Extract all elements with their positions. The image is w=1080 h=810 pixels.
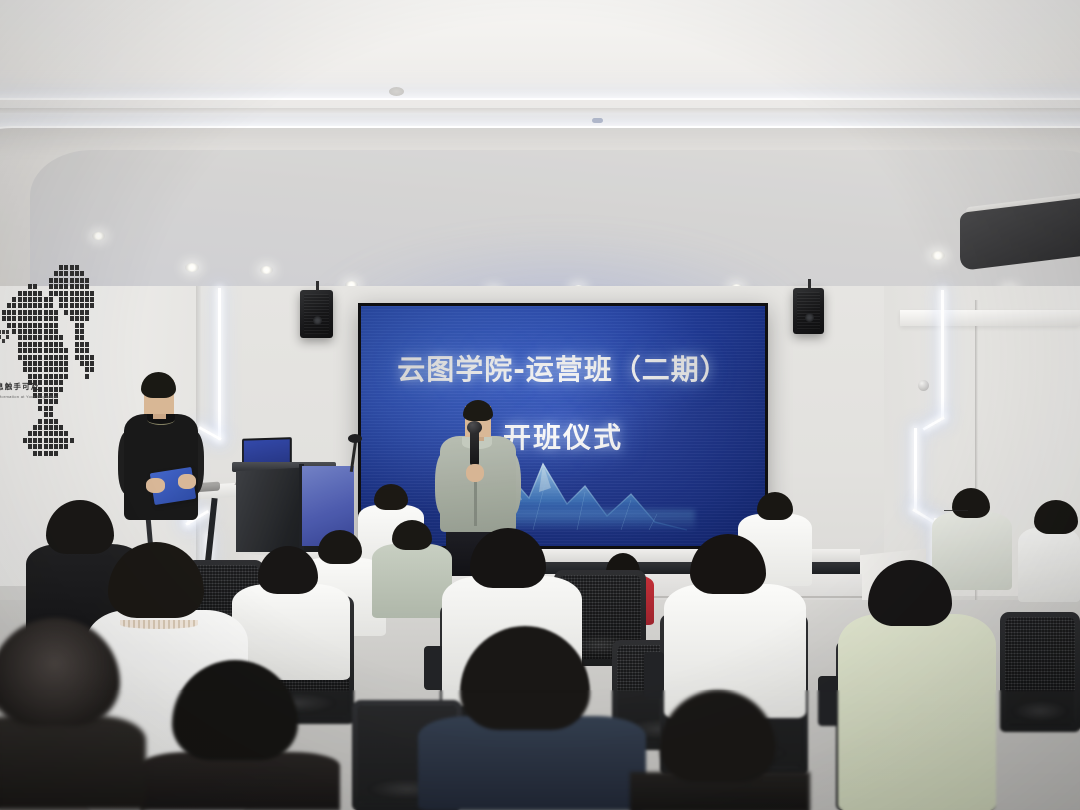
- wall-art-caption: 息触手可及 Information at Your Fingertips: [0, 381, 58, 399]
- audience-member-head: [374, 484, 408, 510]
- ceiling-sensor-icon: [592, 118, 603, 123]
- door-header-trim: [900, 310, 1080, 326]
- audience-member: [838, 614, 996, 810]
- wall-led-strip-left: [218, 288, 221, 440]
- downlight: [185, 263, 199, 272]
- audience-member-head: [392, 520, 432, 550]
- downlight: [931, 251, 945, 260]
- wall-speaker-left: [300, 290, 333, 338]
- office-chair: [1000, 612, 1080, 732]
- chair-armrest: [644, 652, 664, 698]
- downlight: [260, 266, 273, 274]
- audience-member: [372, 544, 452, 618]
- wall-art-caption-zh: 息触手可及: [0, 381, 58, 392]
- ceiling: [0, 0, 1080, 300]
- screen-vignette: [361, 306, 765, 546]
- downlight: [92, 232, 105, 240]
- speaker-grill: [304, 294, 329, 334]
- microphone-head-icon: [348, 434, 362, 443]
- audience-member: [1018, 528, 1080, 602]
- speaker-bracket: [316, 281, 319, 291]
- audience-member-foreground: [418, 716, 646, 810]
- speaker-bracket: [808, 279, 811, 289]
- audience-member-head: [757, 492, 793, 520]
- wall-led-strip-right: [914, 428, 917, 510]
- wall-art-accent-mark: [0, 330, 16, 342]
- chair-armrest: [818, 676, 840, 726]
- chair-armrest: [424, 646, 444, 690]
- wall-led-strip-right: [941, 290, 944, 418]
- microphone-head-icon: [467, 421, 482, 434]
- audience-member-foreground: [0, 716, 146, 810]
- wall-art-caption-en: Information at Your Fingertips: [0, 394, 58, 399]
- led-screen-surface: 云图学院-运营班（二期） 开班仪式: [361, 306, 765, 546]
- audience-member-foreground: [140, 752, 340, 810]
- photo-canvas: 息触手可及 Information at Your Fingertips: [0, 0, 1080, 810]
- speaker-driver-icon: [313, 316, 322, 325]
- host-hand: [178, 474, 196, 489]
- handshake-pixel-graphic: [2, 265, 106, 465]
- speaker-hand: [466, 464, 484, 482]
- smoke-detector-icon: [389, 87, 404, 96]
- wall-speaker-right: [793, 288, 824, 334]
- ceiling-upper-band: [0, 0, 1080, 112]
- glasses-icon: [944, 510, 968, 514]
- wall-art-handshake: [0, 265, 106, 465]
- host-hand: [146, 478, 165, 493]
- speaker-grill: [797, 292, 820, 330]
- door-knob-icon: [918, 380, 929, 391]
- necklace: [120, 620, 198, 629]
- speaker-driver-icon: [805, 313, 814, 322]
